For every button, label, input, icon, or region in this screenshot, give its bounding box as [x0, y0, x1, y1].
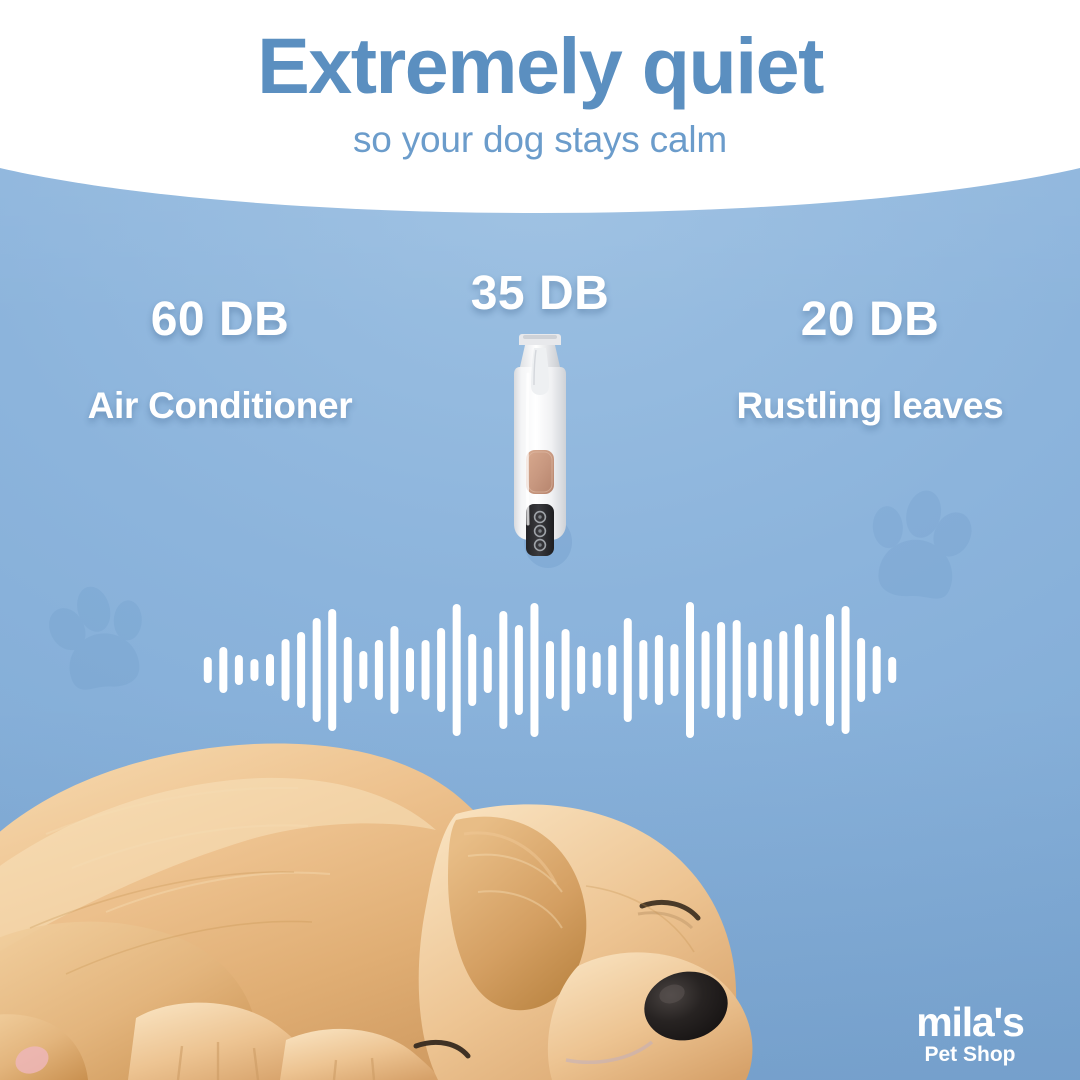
waveform-bar — [282, 639, 290, 701]
waveform-bar — [748, 642, 756, 698]
waveform-bar — [842, 606, 850, 734]
waveform-bar — [515, 625, 523, 715]
waveform-bar — [826, 614, 834, 726]
waveform-bar — [764, 639, 772, 701]
waveform-bar — [406, 648, 414, 692]
waveform-bar — [359, 651, 367, 689]
page-title: Extremely quiet — [0, 0, 1080, 108]
waveform-bar — [639, 640, 647, 700]
waveform-bar — [219, 647, 227, 693]
waveform-bar — [484, 647, 492, 693]
brand-logo: mila's Pet Shop — [872, 1002, 1068, 1065]
sound-waveform-chart — [200, 585, 900, 755]
waveform-bar — [779, 631, 787, 709]
waveform-bar — [437, 628, 445, 712]
sleeping-golden-retriever-puppy-photo — [0, 716, 806, 1080]
db-item-left: 60 DB Air Conditioner — [10, 296, 430, 424]
db-value: 20 DB — [660, 296, 1080, 344]
waveform-bar — [530, 603, 538, 737]
waveform-bar — [390, 626, 398, 714]
header-text-block: Extremely quiet so your dog stays calm — [0, 0, 1080, 163]
waveform-bar — [810, 634, 818, 706]
pet-trimmer-icon — [492, 328, 588, 568]
waveform-bar — [422, 640, 430, 700]
waveform-bar — [717, 622, 725, 718]
waveform-bar — [888, 657, 896, 683]
waveform-bar — [235, 655, 243, 685]
db-label: Rustling leaves — [660, 387, 1080, 424]
waveform-bar — [702, 631, 710, 709]
waveform-bar — [328, 609, 336, 731]
waveform-bar — [577, 646, 585, 694]
waveform-bar — [204, 657, 212, 683]
waveform-bar — [655, 635, 663, 705]
db-value: 60 DB — [10, 296, 430, 344]
waveform-bar — [608, 645, 616, 695]
waveform-bar — [873, 646, 881, 694]
waveform-bar — [562, 629, 570, 711]
page-subtitle: so your dog stays calm — [0, 108, 1080, 162]
waveform-bar — [733, 620, 741, 720]
waveform-bar — [453, 604, 461, 736]
waveform-bar — [266, 654, 274, 686]
db-label: Air Conditioner — [10, 387, 430, 424]
waveform-bar — [546, 641, 554, 699]
db-item-center: 35 DB — [380, 270, 700, 318]
logo-tagline: Pet Shop — [872, 1044, 1068, 1065]
waveform-bar — [624, 618, 632, 722]
waveform-bar — [670, 644, 678, 696]
waveform-bar — [250, 659, 258, 681]
waveform-bar — [686, 602, 694, 738]
db-item-right: 20 DB Rustling leaves — [660, 296, 1080, 424]
waveform-bar — [857, 638, 865, 702]
waveform-bar — [468, 634, 476, 706]
waveform-bar — [499, 611, 507, 729]
waveform-bar — [313, 618, 321, 722]
waveform-bar — [795, 624, 803, 716]
poster-canvas: Extremely quiet so your dog stays calm 6… — [0, 0, 1080, 1080]
db-value: 35 DB — [380, 270, 700, 318]
waveform-bar — [375, 640, 383, 700]
waveform-bar — [344, 637, 352, 703]
waveform-bar — [593, 652, 601, 688]
waveform-bar — [297, 632, 305, 708]
logo-name: mila's — [872, 1002, 1068, 1042]
paw-print-icon — [23, 566, 174, 712]
